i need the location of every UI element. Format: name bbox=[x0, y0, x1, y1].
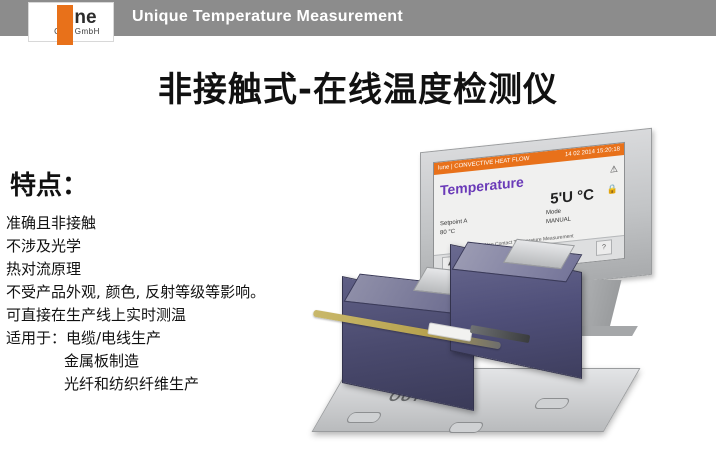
list-item: 金属板制造 bbox=[6, 350, 336, 373]
mode-value: MANUAL bbox=[546, 216, 571, 228]
list-item: 不受产品外观, 颜色, 反射等级等影响。 bbox=[6, 281, 336, 304]
list-item: 可直接在生产线上实时测温 bbox=[6, 304, 336, 327]
logo-accent-bar bbox=[57, 5, 73, 45]
product-photo: lune | CONVECTIVE HEAT FLOW 14 02 2014 1… bbox=[300, 130, 710, 460]
features-list: 准确且非接触 不涉及光学 热对流原理 不受产品外观, 颜色, 反射等级等影响。 … bbox=[6, 212, 336, 396]
display-topbar-right: 14 02 2014 15:20:18 bbox=[565, 146, 620, 158]
features-heading: 特点： bbox=[10, 165, 88, 202]
list-item: 准确且非接触 bbox=[6, 212, 336, 235]
company-logo: lune CHF GmbH bbox=[28, 2, 114, 42]
display-button-help[interactable]: ? bbox=[596, 239, 612, 256]
lock-icon: 🔒 bbox=[607, 184, 618, 196]
display-temperature-value: 5'U °C bbox=[550, 186, 594, 208]
warning-icon: ⚠ bbox=[610, 164, 618, 176]
list-item: 适用于：电缆/电线生产 bbox=[6, 327, 336, 350]
list-item: 不涉及光学 bbox=[6, 235, 336, 258]
display-mode: Mode MANUAL bbox=[546, 207, 571, 228]
setpoint-value: 80 °C bbox=[440, 226, 467, 238]
display-setpoint: Setpoint A 80 °C bbox=[440, 217, 467, 238]
list-item: 热对流原理 bbox=[6, 258, 336, 281]
page-title: 非接触式-在线温度检测仪 bbox=[0, 62, 716, 111]
display-title: Temperature bbox=[440, 174, 524, 199]
header-title: Unique Temperature Measurement bbox=[132, 8, 403, 26]
list-item: 光纤和纺织纤维生产 bbox=[6, 373, 336, 396]
